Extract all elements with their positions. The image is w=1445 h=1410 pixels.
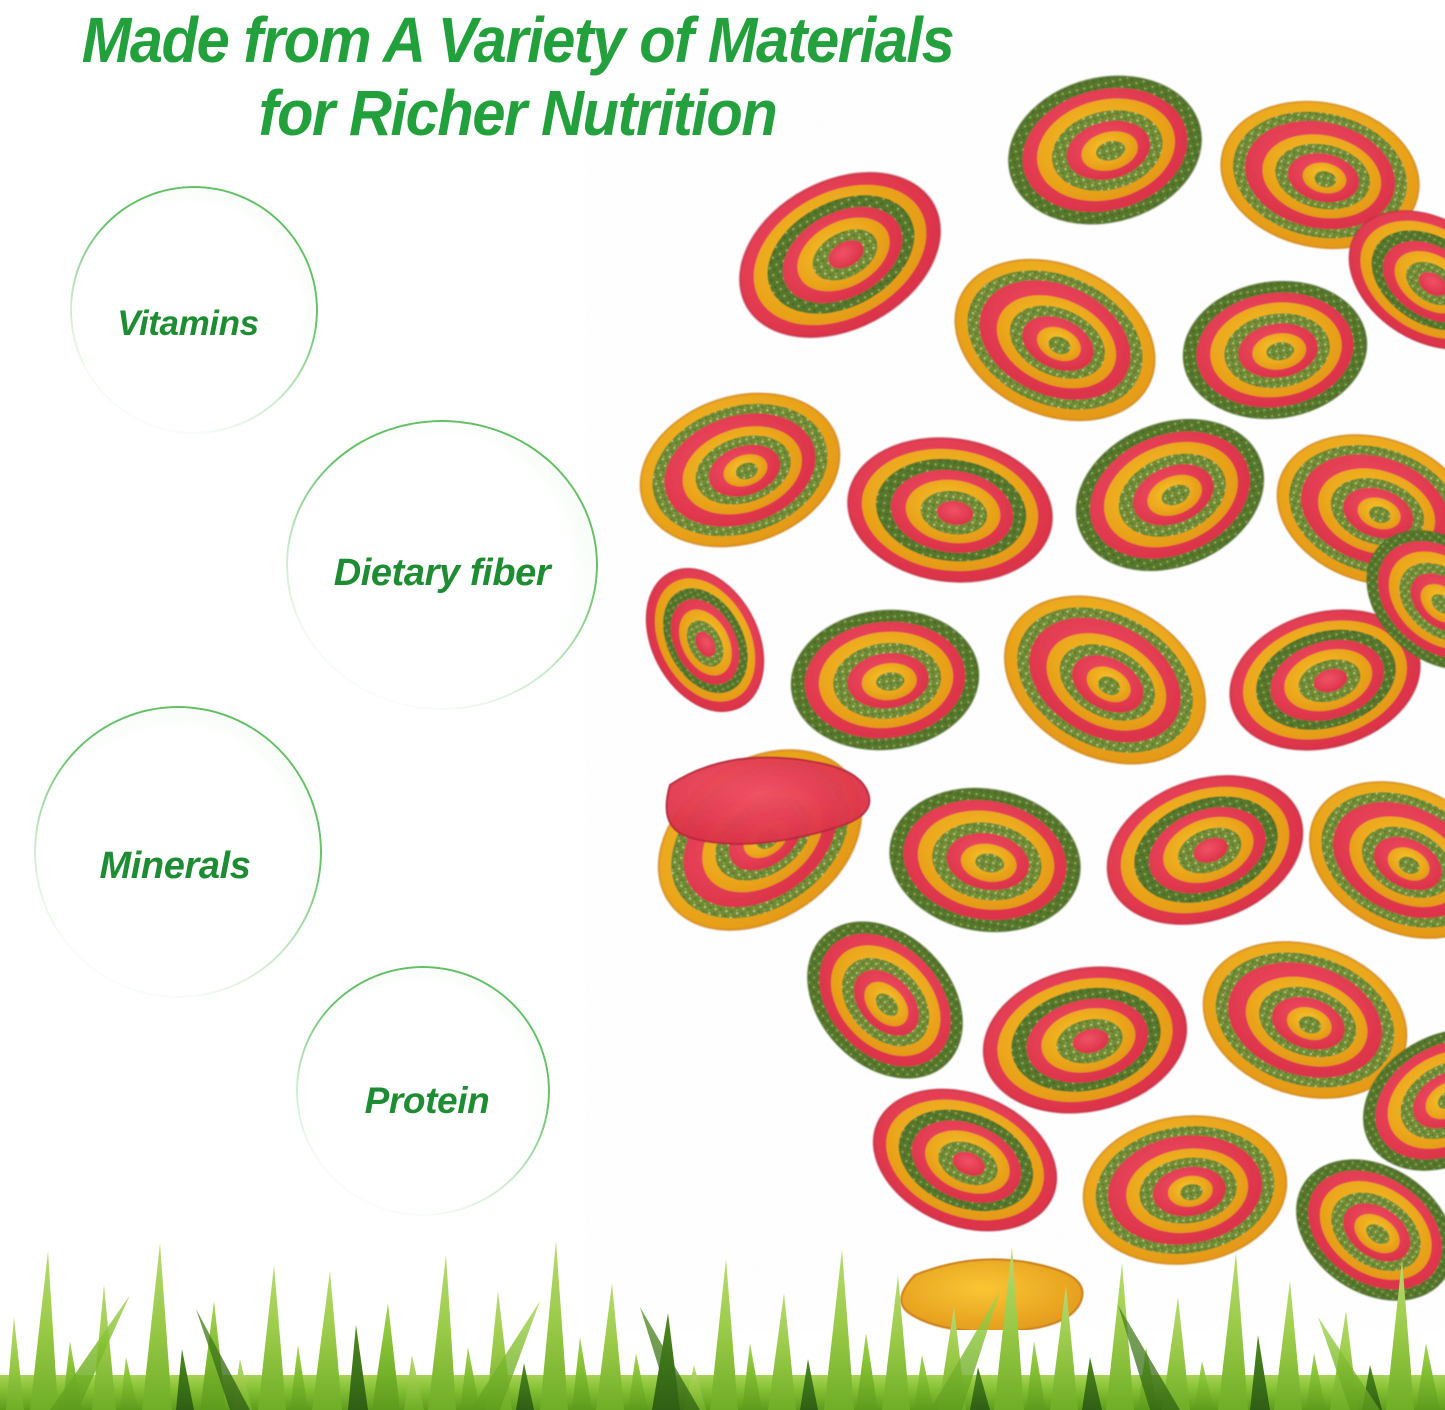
page-title-line-2: for Richer Nutrition <box>36 77 999 150</box>
nutrient-bubble-label: Protein <box>365 1080 490 1122</box>
nutrient-bubble-vitamins[interactable]: Vitamins <box>70 186 318 434</box>
page-title: Made from A Variety of Materials for Ric… <box>36 4 999 150</box>
product-photo-treat-pile <box>585 40 1445 1330</box>
nutrient-bubble-minerals[interactable]: Minerals <box>34 706 322 998</box>
nutrient-bubble-label: Vitamins <box>117 304 258 344</box>
page-title-line-1: Made from A Variety of Materials <box>36 4 999 77</box>
grass-border-decoration <box>0 1225 1445 1410</box>
nutrient-bubble-label: Minerals <box>100 845 251 888</box>
nutrient-bubble-protein[interactable]: Protein <box>296 966 550 1216</box>
infographic-canvas: Made from A Variety of Materials for Ric… <box>0 0 1445 1410</box>
nutrient-bubble-dietary-fiber[interactable]: Dietary fiber <box>286 420 598 710</box>
nutrient-bubble-label: Dietary fiber <box>334 552 551 595</box>
